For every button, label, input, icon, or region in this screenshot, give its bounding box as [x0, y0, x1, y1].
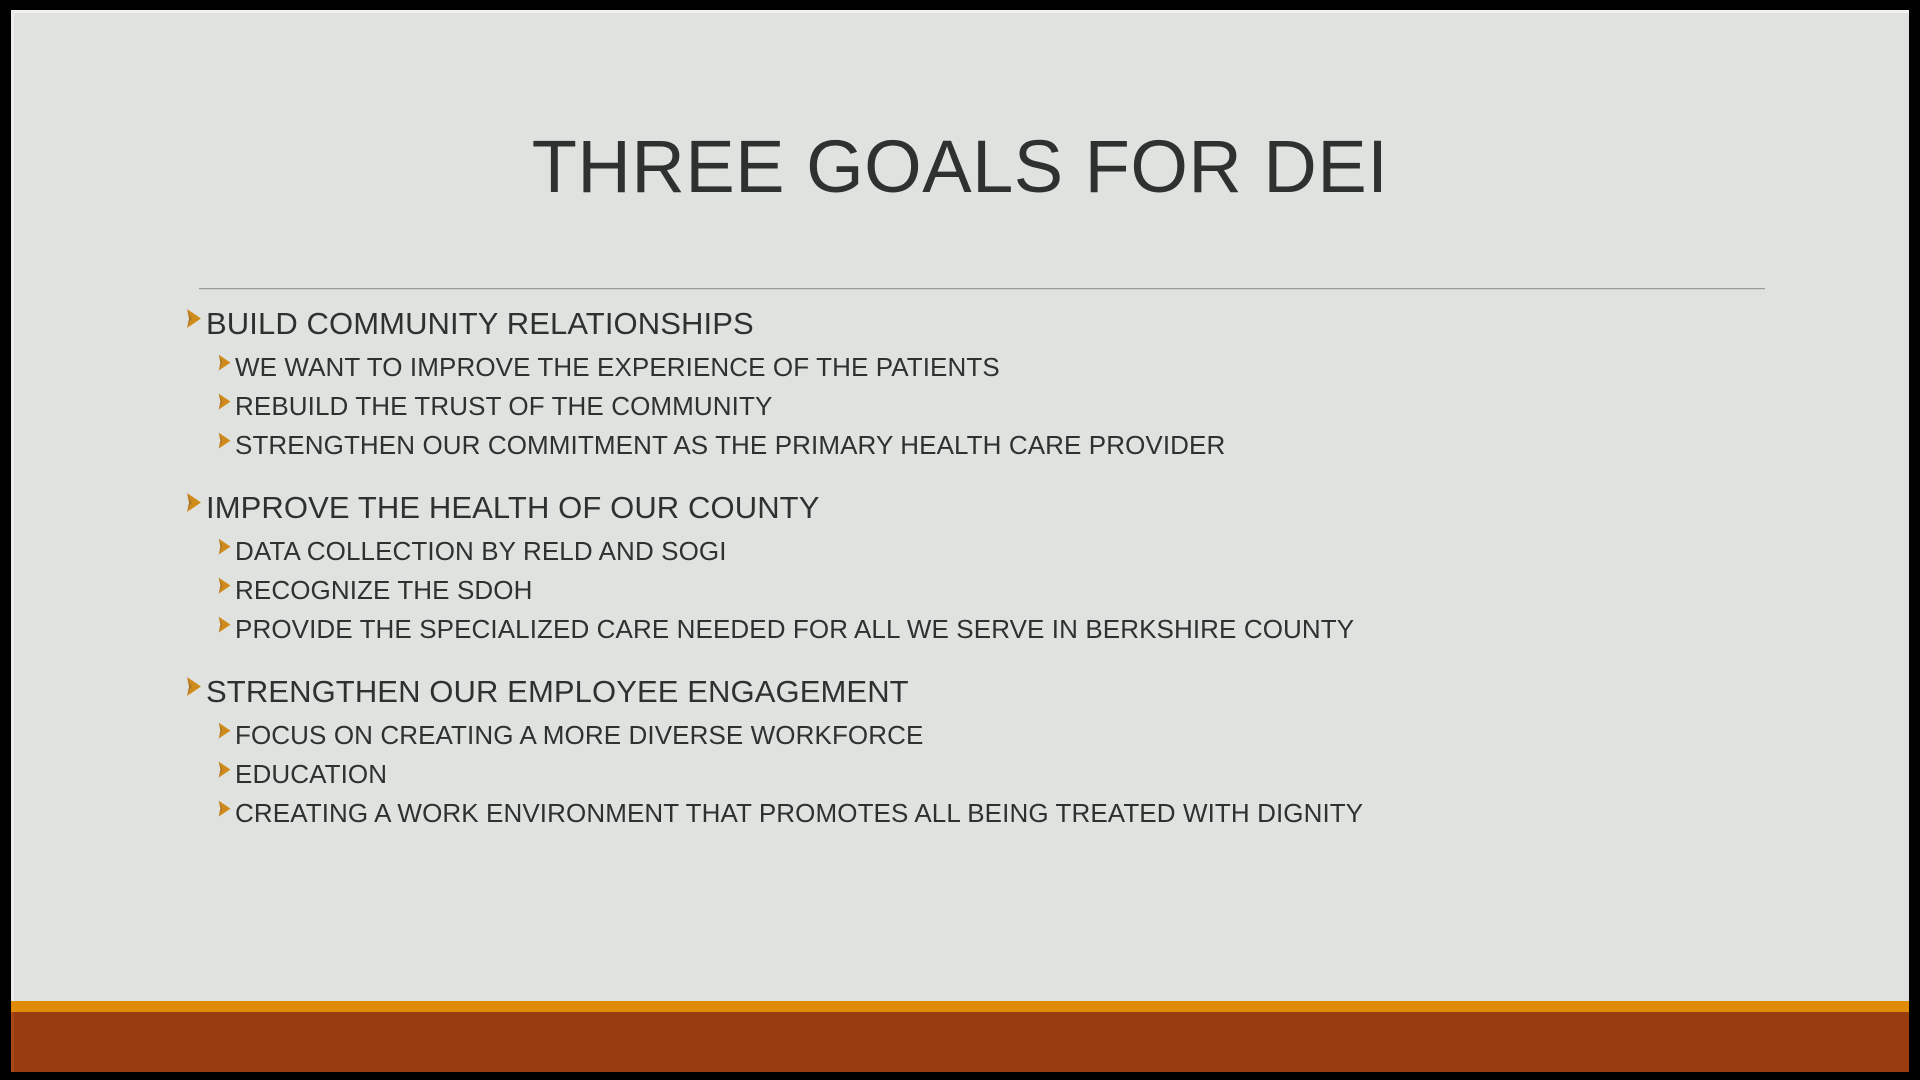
chevron-arrow-bullet-icon	[185, 488, 204, 518]
chevron-arrow-bullet-icon	[185, 304, 204, 334]
goal-group: BUILD COMMUNITY RELATIONSHIPS WE WANT TO…	[185, 302, 1885, 464]
goal-subitem-row: RECOGNIZE THE SDOH	[217, 571, 1885, 609]
page-title: THREE GOALS FOR DEI	[11, 130, 1909, 204]
goal-subitem-label: DATA COLLECTION BY RELD AND SOGI	[235, 532, 727, 570]
slide-frame: THREE GOALS FOR DEI BUILD COMMUNITY RELA…	[0, 0, 1920, 1080]
slide-canvas: THREE GOALS FOR DEI BUILD COMMUNITY RELA…	[11, 10, 1909, 1072]
chevron-arrow-bullet-icon	[185, 672, 204, 702]
goal-subitem-label: CREATING A WORK ENVIRONMENT THAT PROMOTE…	[235, 794, 1363, 832]
goal-subitem-label: WE WANT TO IMPROVE THE EXPERIENCE OF THE…	[235, 348, 1000, 386]
goal-subitem-label: EDUCATION	[235, 755, 387, 793]
goal-group: IMPROVE THE HEALTH OF OUR COUNTY DATA CO…	[185, 486, 1885, 648]
goal-subitem-row: WE WANT TO IMPROVE THE EXPERIENCE OF THE…	[217, 348, 1885, 386]
goal-heading-label: IMPROVE THE HEALTH OF OUR COUNTY	[206, 486, 820, 530]
goal-subitem-row: PROVIDE THE SPECIALIZED CARE NEEDED FOR …	[217, 610, 1885, 648]
chevron-arrow-bullet-icon	[217, 389, 233, 415]
goal-subitem-row: STRENGTHEN OUR COMMITMENT AS THE PRIMARY…	[217, 426, 1885, 464]
goal-heading-label: STRENGTHEN OUR EMPLOYEE ENGAGEMENT	[206, 670, 909, 714]
chevron-arrow-bullet-icon	[217, 796, 233, 822]
goal-subitem-row: EDUCATION	[217, 755, 1885, 793]
bullet-content: BUILD COMMUNITY RELATIONSHIPS WE WANT TO…	[185, 302, 1885, 833]
chevron-arrow-bullet-icon	[217, 612, 233, 638]
chevron-arrow-bullet-icon	[217, 718, 233, 744]
chevron-arrow-bullet-icon	[217, 428, 233, 454]
goal-subitem-row: DATA COLLECTION BY RELD AND SOGI	[217, 532, 1885, 570]
goal-heading-row: IMPROVE THE HEALTH OF OUR COUNTY	[185, 486, 1885, 530]
goal-group: STRENGTHEN OUR EMPLOYEE ENGAGEMENT FOCUS…	[185, 670, 1885, 832]
chevron-arrow-bullet-icon	[217, 350, 233, 376]
goal-heading-row: STRENGTHEN OUR EMPLOYEE ENGAGEMENT	[185, 670, 1885, 714]
footer-accent-stripe	[11, 1001, 1909, 1012]
goal-subitem-label: PROVIDE THE SPECIALIZED CARE NEEDED FOR …	[235, 610, 1354, 648]
footer-band	[11, 1012, 1909, 1072]
goal-heading-label: BUILD COMMUNITY RELATIONSHIPS	[206, 302, 754, 346]
title-divider	[199, 288, 1765, 290]
canvas-top-edge	[11, 10, 1909, 13]
goal-subitem-row: CREATING A WORK ENVIRONMENT THAT PROMOTE…	[217, 794, 1885, 832]
goal-heading-row: BUILD COMMUNITY RELATIONSHIPS	[185, 302, 1885, 346]
goal-subitem-label: RECOGNIZE THE SDOH	[235, 571, 532, 609]
chevron-arrow-bullet-icon	[217, 757, 233, 783]
goal-subitem-row: REBUILD THE TRUST OF THE COMMUNITY	[217, 387, 1885, 425]
chevron-arrow-bullet-icon	[217, 534, 233, 560]
goal-subitem-label: STRENGTHEN OUR COMMITMENT AS THE PRIMARY…	[235, 426, 1225, 464]
goal-subitem-label: FOCUS ON CREATING A MORE DIVERSE WORKFOR…	[235, 716, 923, 754]
chevron-arrow-bullet-icon	[217, 573, 233, 599]
goal-subitem-label: REBUILD THE TRUST OF THE COMMUNITY	[235, 387, 772, 425]
goal-subitem-row: FOCUS ON CREATING A MORE DIVERSE WORKFOR…	[217, 716, 1885, 754]
footer-band-edge	[11, 1012, 14, 1072]
